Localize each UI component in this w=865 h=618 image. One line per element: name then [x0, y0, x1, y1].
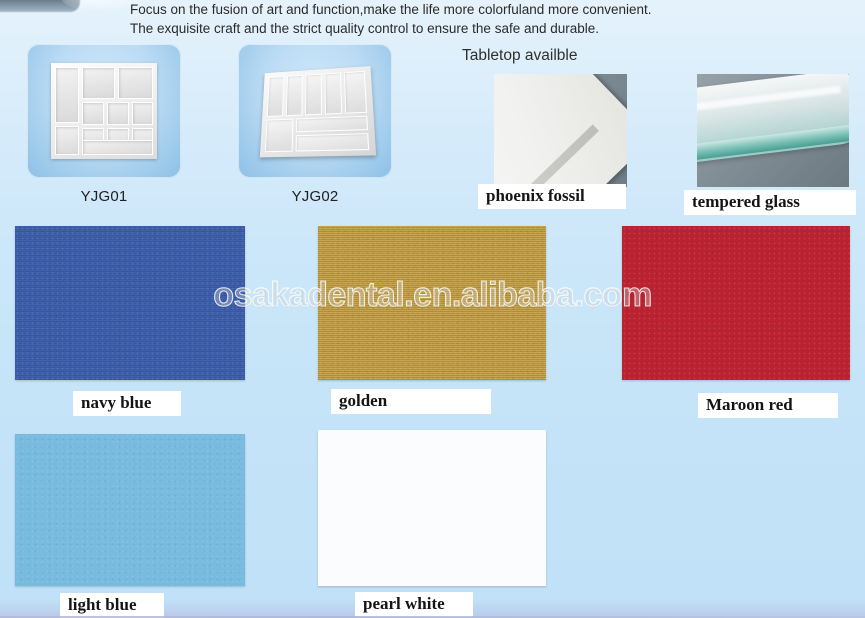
swatch-light-blue[interactable] [15, 434, 245, 586]
tabletop-heading: Tabletop availble [462, 47, 577, 65]
label-maroon-red: Maroon red [698, 393, 838, 418]
swatch-navy-blue[interactable] [15, 226, 245, 380]
swatch-speckle [15, 226, 245, 380]
label-golden: golden [331, 389, 491, 414]
label-navy-blue: navy blue [73, 391, 181, 416]
drawer-organizer-yjg01-image [51, 63, 157, 159]
label-phoenix-fossil: phoenix fossil [478, 184, 626, 209]
phoenix-fossil-photo[interactable] [494, 74, 627, 187]
product-caption-yjg01: YJG01 [27, 188, 181, 205]
product-caption-yjg02: YJG02 [238, 188, 392, 205]
product-card-yjg02[interactable] [238, 44, 392, 178]
label-light-blue: light blue [60, 593, 164, 618]
product-card-yjg01[interactable] [27, 44, 181, 178]
swatch-speckle [318, 226, 546, 380]
swatch-speckle [15, 434, 245, 586]
drawer-organizer-yjg02-image [260, 66, 376, 157]
tempered-glass-photo[interactable] [697, 74, 849, 187]
swatch-golden[interactable] [318, 226, 546, 380]
swatch-pearl-white[interactable] [318, 430, 546, 586]
headline-line-1: Focus on the fusion of art and function,… [130, 2, 652, 17]
fossil-slab-shape [494, 74, 627, 187]
label-tempered-glass: tempered glass [684, 190, 856, 215]
headline-line-2: The exquisite craft and the strict quali… [130, 19, 750, 38]
swatch-speckle [622, 226, 850, 380]
label-pearl-white: pearl white [355, 592, 473, 617]
swatch-maroon-red[interactable] [622, 226, 850, 380]
product-color-chart-page: Focus on the fusion of art and function,… [0, 0, 865, 618]
headline-block: Focus on the fusion of art and function,… [130, 0, 750, 38]
